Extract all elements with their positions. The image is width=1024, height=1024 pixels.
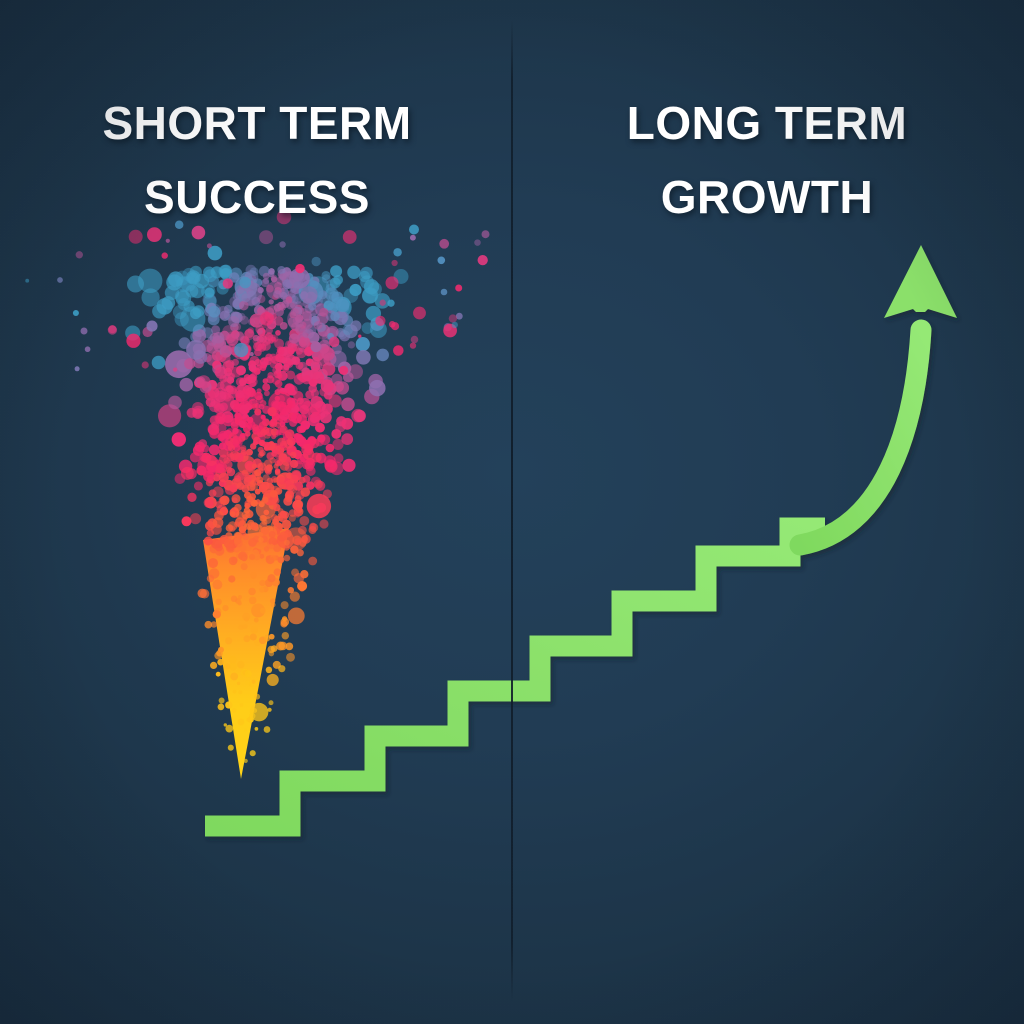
infographic-canvas: SHORT TERM SUCCESS LONG TERM GROWTH <box>0 0 1024 1024</box>
long-term-title: LONG TERM GROWTH <box>552 86 982 234</box>
growth-arrow-shaft <box>800 330 921 545</box>
growth-staircase <box>205 528 825 826</box>
panel-divider <box>511 20 513 1002</box>
growth-arrow-head <box>884 245 957 318</box>
short-term-title: SHORT TERM SUCCESS <box>42 86 472 234</box>
